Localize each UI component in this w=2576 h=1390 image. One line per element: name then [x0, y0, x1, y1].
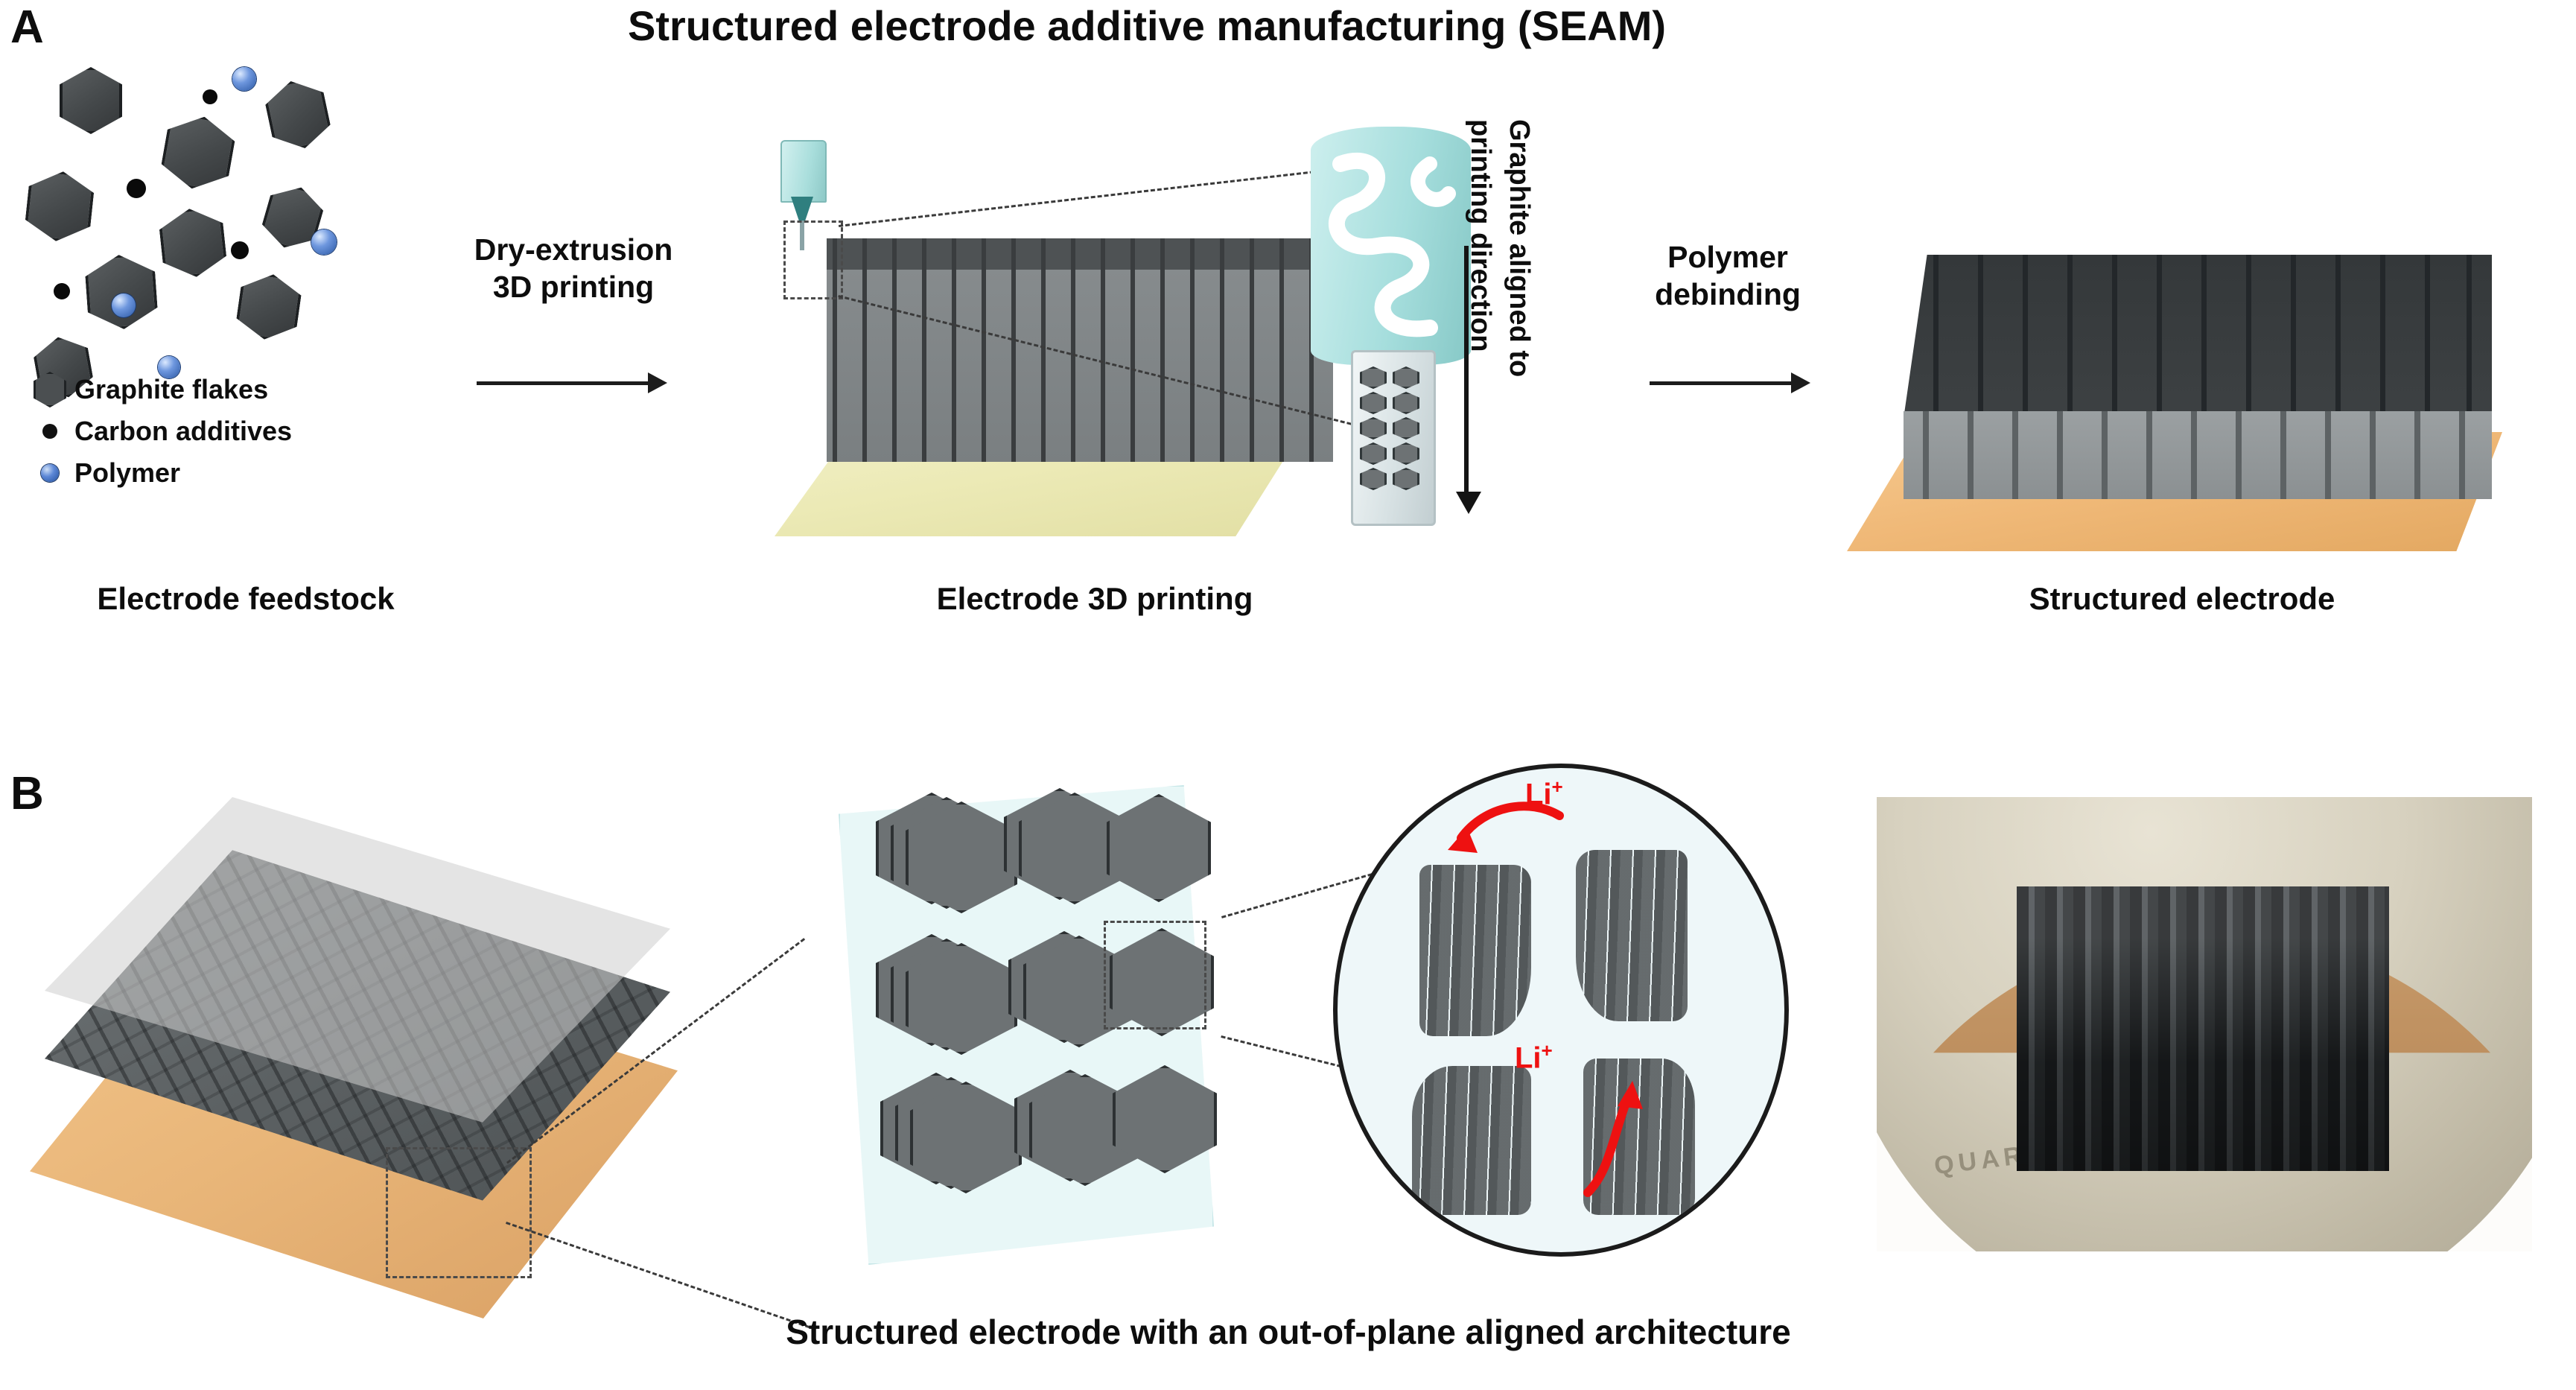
sphere-icon [25, 464, 74, 482]
arrow-label-line-1: Dry-extrusion [417, 231, 730, 268]
printhead-tip-icon [791, 197, 813, 222]
carbon-additive-icon [203, 89, 217, 104]
graphite-flake-icon [234, 270, 303, 344]
ion-label-text: Li [1515, 1041, 1542, 1074]
process-arrow-1 [477, 372, 667, 393]
dot-icon [25, 424, 74, 439]
graphite-flake-stack-illustration [812, 775, 1229, 1281]
graphite-flake-icon [157, 206, 228, 280]
zoom-region-box [386, 1147, 532, 1278]
legend-item-carbon-additives: Carbon additives [25, 414, 368, 448]
graphite-cluster [1412, 1066, 1531, 1215]
process-arrow-2 [1650, 372, 1810, 393]
figure-title: Structured electrode additive manufactur… [477, 4, 1817, 48]
arrow-label-dry-extrusion: Dry-extrusion 3D printing [417, 231, 730, 305]
graphite-flake-icon [84, 253, 159, 331]
panel-b-caption: Structured electrode with an out-of-plan… [447, 1313, 2130, 1352]
zoom-region-box [783, 220, 843, 299]
electrode-on-coin-photo: QUARTER DOLLAR [1877, 797, 2532, 1251]
ion-label-text: Li [1525, 778, 1552, 810]
legend-label: Carbon additives [74, 418, 292, 445]
stage-caption-structured-electrode: Structured electrode [1825, 581, 2540, 617]
printing-direction-label-line-1: Graphite aligned to [1503, 119, 1534, 377]
legend-item-polymer: Polymer [25, 456, 368, 490]
legend-label: Graphite flakes [74, 376, 268, 403]
polymer-particle-icon [311, 229, 337, 255]
aligned-graphite-in-nozzle [1357, 364, 1425, 512]
arrow-label-line-1: Polymer [1586, 238, 1869, 276]
arrow-label-line-2: debinding [1586, 276, 1869, 313]
legend-label: Polymer [74, 460, 180, 486]
ion-label-bottom: Li+ [1515, 1039, 1553, 1075]
carbon-additive-icon [54, 283, 70, 299]
structured-electrode-illustration [1847, 223, 2517, 559]
ion-label-top: Li+ [1525, 775, 1563, 811]
stage-caption-printing: Electrode 3D printing [745, 581, 1445, 617]
carbon-additive-icon [127, 179, 146, 198]
structured-electrode-3d-view [30, 775, 685, 1296]
hexagon-icon [25, 372, 74, 407]
carbon-additive-icon [231, 241, 249, 259]
graphite-flake-icon [158, 111, 238, 194]
ion-charge: + [1552, 775, 1563, 798]
panel-a-letter: A [10, 4, 44, 51]
ion-charge: + [1542, 1039, 1553, 1061]
ion-transport-callout: Li+ Li+ [1333, 764, 1789, 1257]
printed-electrode-block [827, 238, 1333, 462]
feedstock-legend: Graphite flakes Carbon additives Polymer [25, 372, 368, 490]
printed-electrode-sample [2017, 886, 2389, 1171]
polymer-particle-icon [112, 293, 136, 317]
printing-direction-arrow [1456, 246, 1481, 514]
graphite-cluster [1419, 865, 1531, 1036]
arrow-label-polymer-debinding: Polymer debinding [1586, 238, 1869, 313]
graphite-flake-icon [60, 67, 122, 134]
graphite-flake-icon [261, 75, 334, 155]
ion-path-arrow-icon [1561, 1066, 1695, 1207]
electrode-front-pillars [1904, 411, 2492, 499]
graphite-swirl-icon [1318, 142, 1467, 358]
graphite-cluster [1576, 850, 1688, 1021]
graphite-flake-icon [23, 168, 95, 245]
legend-item-graphite-flakes: Graphite flakes [25, 372, 368, 407]
printhead-syringe-icon [780, 140, 827, 203]
zoom-region-box [1104, 921, 1206, 1029]
electrode-rib-group [1904, 255, 2492, 419]
polymer-particle-icon [232, 67, 256, 91]
arrow-label-line-2: 3D printing [417, 268, 730, 305]
stage-caption-feedstock: Electrode feedstock [0, 581, 492, 617]
